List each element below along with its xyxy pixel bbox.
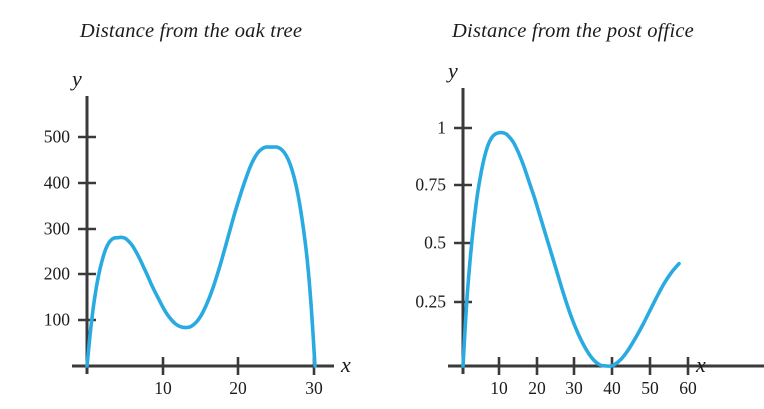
- x-tick-label-30: 30: [305, 380, 323, 398]
- x-tick-label-60: 60: [679, 380, 697, 398]
- figure-container: Distance from the oak tree y x 100 200 3…: [0, 0, 764, 409]
- x-tick-label-40: 40: [603, 380, 621, 398]
- y-tick-label-200: 200: [18, 265, 70, 283]
- y-tick-label-0-75: 0.75: [386, 176, 446, 194]
- x-axis-label: x: [341, 354, 351, 376]
- x-tick-label-30: 30: [565, 380, 583, 398]
- data-curve-post-office: [463, 133, 679, 367]
- y-tick-label-500: 500: [18, 128, 70, 146]
- y-tick-label-0-5: 0.5: [386, 234, 446, 252]
- y-tick-label-100: 100: [18, 311, 70, 329]
- chart-panel-post-office: Distance from the post office y x 0.25 0…: [382, 0, 764, 409]
- y-axis-label: y: [72, 68, 82, 90]
- y-tick-label-300: 300: [18, 220, 70, 238]
- y-tick-label-0-25: 0.25: [386, 293, 446, 311]
- x-tick-label-20: 20: [528, 380, 546, 398]
- y-axis-label: y: [448, 60, 458, 82]
- x-tick-label-20: 20: [229, 380, 247, 398]
- x-axis-label: x: [696, 354, 706, 376]
- x-tick-label-10: 10: [154, 380, 172, 398]
- plot-area-oak-tree: [0, 0, 382, 409]
- x-tick-label-50: 50: [641, 380, 659, 398]
- plot-area-post-office: [382, 0, 764, 409]
- y-tick-label-400: 400: [18, 174, 70, 192]
- chart-panel-oak-tree: Distance from the oak tree y x 100 200 3…: [0, 0, 382, 409]
- x-tick-label-10: 10: [490, 380, 508, 398]
- y-tick-label-1: 1: [386, 119, 446, 137]
- data-curve-oak-tree: [87, 147, 315, 366]
